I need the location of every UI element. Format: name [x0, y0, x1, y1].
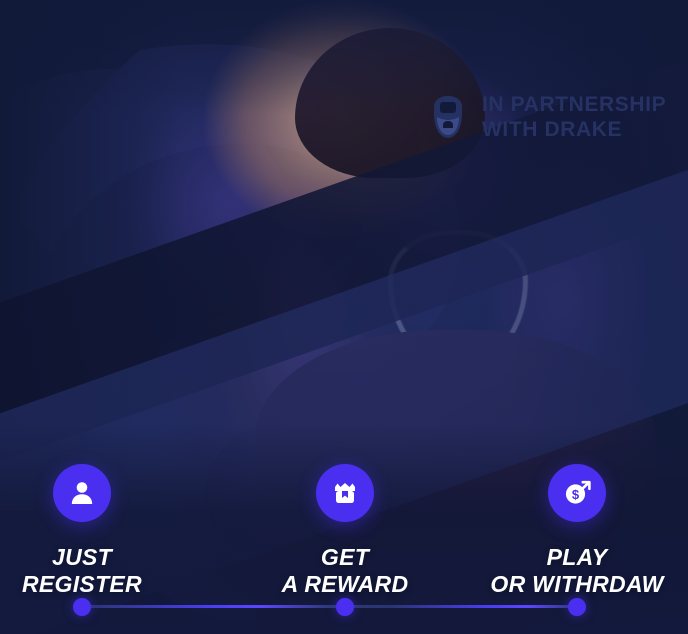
step-badge-register[interactable]: [53, 464, 111, 522]
step-label-reward-line2: A REWARD: [245, 571, 445, 598]
progress-dot-3[interactable]: [568, 598, 586, 616]
bearded-face-logo-icon: [428, 95, 468, 139]
partnership-text: IN PARTNERSHIP WITH DRAKE: [482, 92, 666, 142]
gift-box-icon: [331, 479, 359, 507]
progress-dot-1[interactable]: [73, 598, 91, 616]
partnership-line-1: IN PARTNERSHIP: [482, 92, 666, 117]
dollar-coin-arrow-icon: $: [562, 478, 592, 508]
svg-text:$: $: [572, 487, 580, 502]
progress-track: [82, 605, 577, 608]
step-label-withdraw-line2: OR WITHRDAW: [477, 571, 677, 598]
progress-dot-2[interactable]: [336, 598, 354, 616]
step-label-register-line1: JUST: [0, 544, 182, 571]
step-reward[interactable]: GET A REWARD: [245, 464, 445, 598]
user-icon: [68, 479, 96, 507]
step-label-withdraw-line1: PLAY: [477, 544, 677, 571]
step-label-register-line2: REGISTER: [0, 571, 182, 598]
promo-banner: IN PARTNERSHIP WITH DRAKE JUST REGISTER: [0, 0, 688, 634]
step-register[interactable]: JUST REGISTER: [0, 464, 182, 598]
step-withdraw[interactable]: $ PLAY OR WITHRDAW: [477, 464, 677, 598]
step-badge-reward[interactable]: [316, 464, 374, 522]
steps-row: JUST REGISTER GET A REWARD: [0, 454, 688, 634]
step-badge-withdraw[interactable]: $: [548, 464, 606, 522]
step-label-reward-line1: GET: [245, 544, 445, 571]
partnership-badge: IN PARTNERSHIP WITH DRAKE: [428, 92, 666, 142]
partnership-line-2: WITH DRAKE: [482, 117, 666, 142]
